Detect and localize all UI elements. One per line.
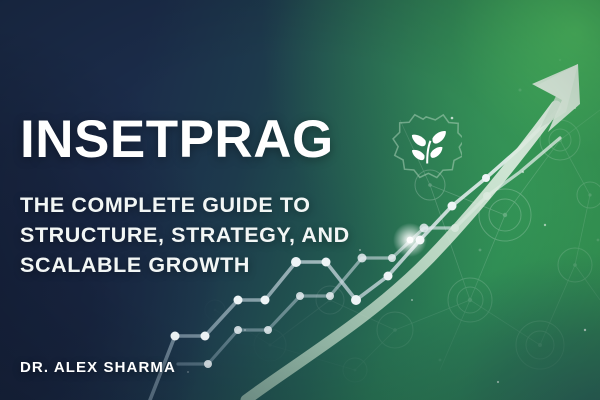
page-title: INSETPRAG: [20, 112, 334, 168]
book-cover: INSETPRAG THE COMPLETE GUIDE TO STRUCTUR…: [0, 0, 600, 400]
sprout-plant-icon: [392, 113, 462, 183]
badge-ring: [393, 115, 462, 178]
subtitle-line-1: THE COMPLETE GUIDE TO: [20, 190, 390, 220]
subtitle: THE COMPLETE GUIDE TO STRUCTURE, STRATEG…: [20, 190, 390, 280]
author-name: DR. ALEX SHARMA: [20, 358, 176, 378]
sprout-glyph: [412, 131, 446, 163]
subtitle-line-2: STRUCTURE, STRATEGY, AND: [20, 220, 390, 250]
sprout-badge: [392, 113, 462, 183]
subtitle-line-3: SCALABLE GROWTH: [20, 250, 390, 280]
